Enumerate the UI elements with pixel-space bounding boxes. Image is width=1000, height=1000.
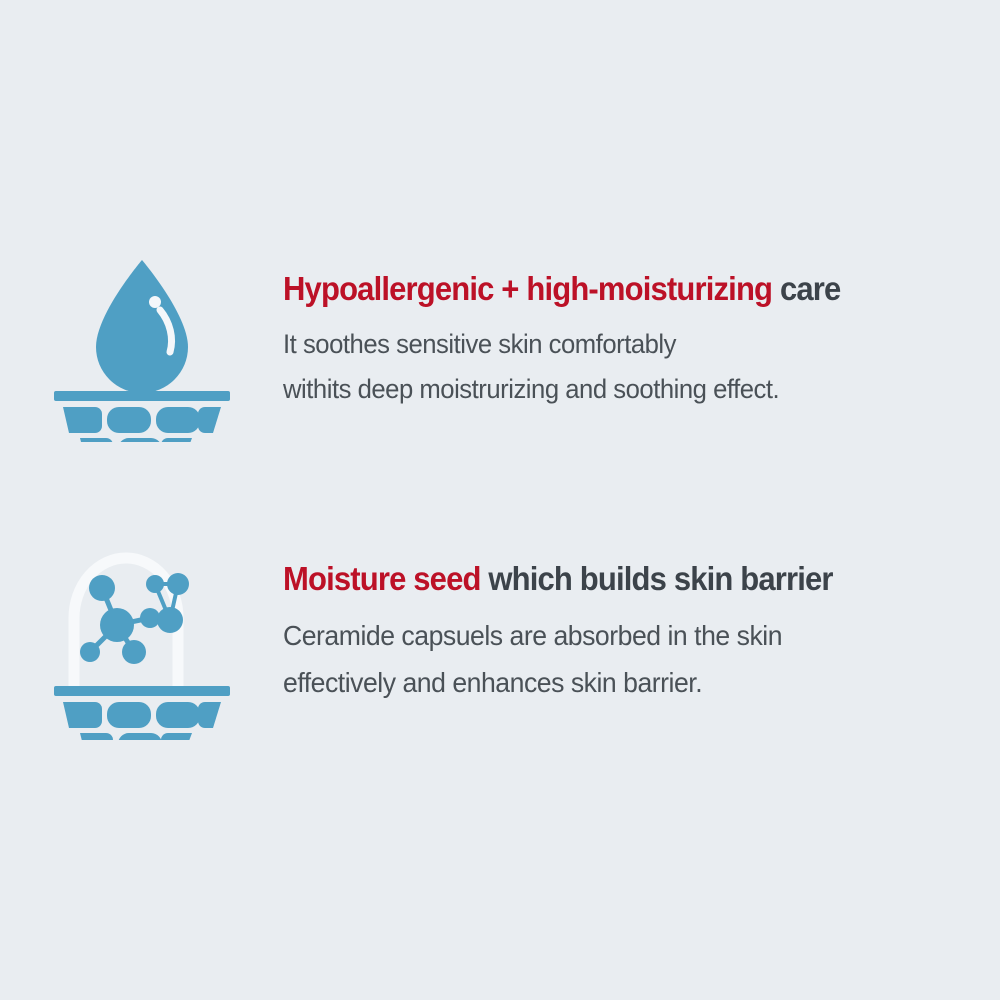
skin-layers-bowl-shape — [54, 391, 230, 442]
feature-body-line: effectively and enhances skin barrier. — [283, 659, 964, 706]
headline-plain-text: which builds skin barrier — [481, 560, 833, 597]
feature-text-container: Hypoallergenic + high-moisturizing care … — [283, 248, 1000, 412]
headline-accent-text: Hypoallergenic + high-moisturizing — [283, 270, 772, 307]
infographic-page: Hypoallergenic + high-moisturizing care … — [0, 0, 1000, 1000]
moisture-seed-capsule-over-skin-layers-icon — [42, 540, 242, 740]
water-drop-shape — [96, 260, 188, 393]
water-drop-over-skin-layers-icon — [42, 252, 242, 442]
feature-text-container: Moisture seed which builds skin barrier … — [283, 536, 1000, 706]
headline-accent-text: Moisture seed — [283, 560, 481, 597]
feature-block-hypoallergenic: Hypoallergenic + high-moisturizing care … — [0, 248, 1000, 442]
feature-body-line: withits deep moistrurizing and soothing … — [283, 367, 964, 412]
feature-body-line: Ceramide capsuels are absorbed in the sk… — [283, 612, 964, 659]
headline-plain-text: care — [772, 270, 840, 307]
feature-headline: Moisture seed which builds skin barrier — [283, 560, 957, 598]
feature-block-moisture-seed: Moisture seed which builds skin barrier … — [0, 536, 1000, 740]
skin-layers-bowl-shape — [54, 686, 230, 740]
feature-headline: Hypoallergenic + high-moisturizing care — [283, 270, 957, 308]
feature-icon-container — [0, 536, 283, 740]
feature-icon-container — [0, 248, 283, 442]
feature-body-line: It soothes sensitive skin comfortably — [283, 322, 964, 367]
